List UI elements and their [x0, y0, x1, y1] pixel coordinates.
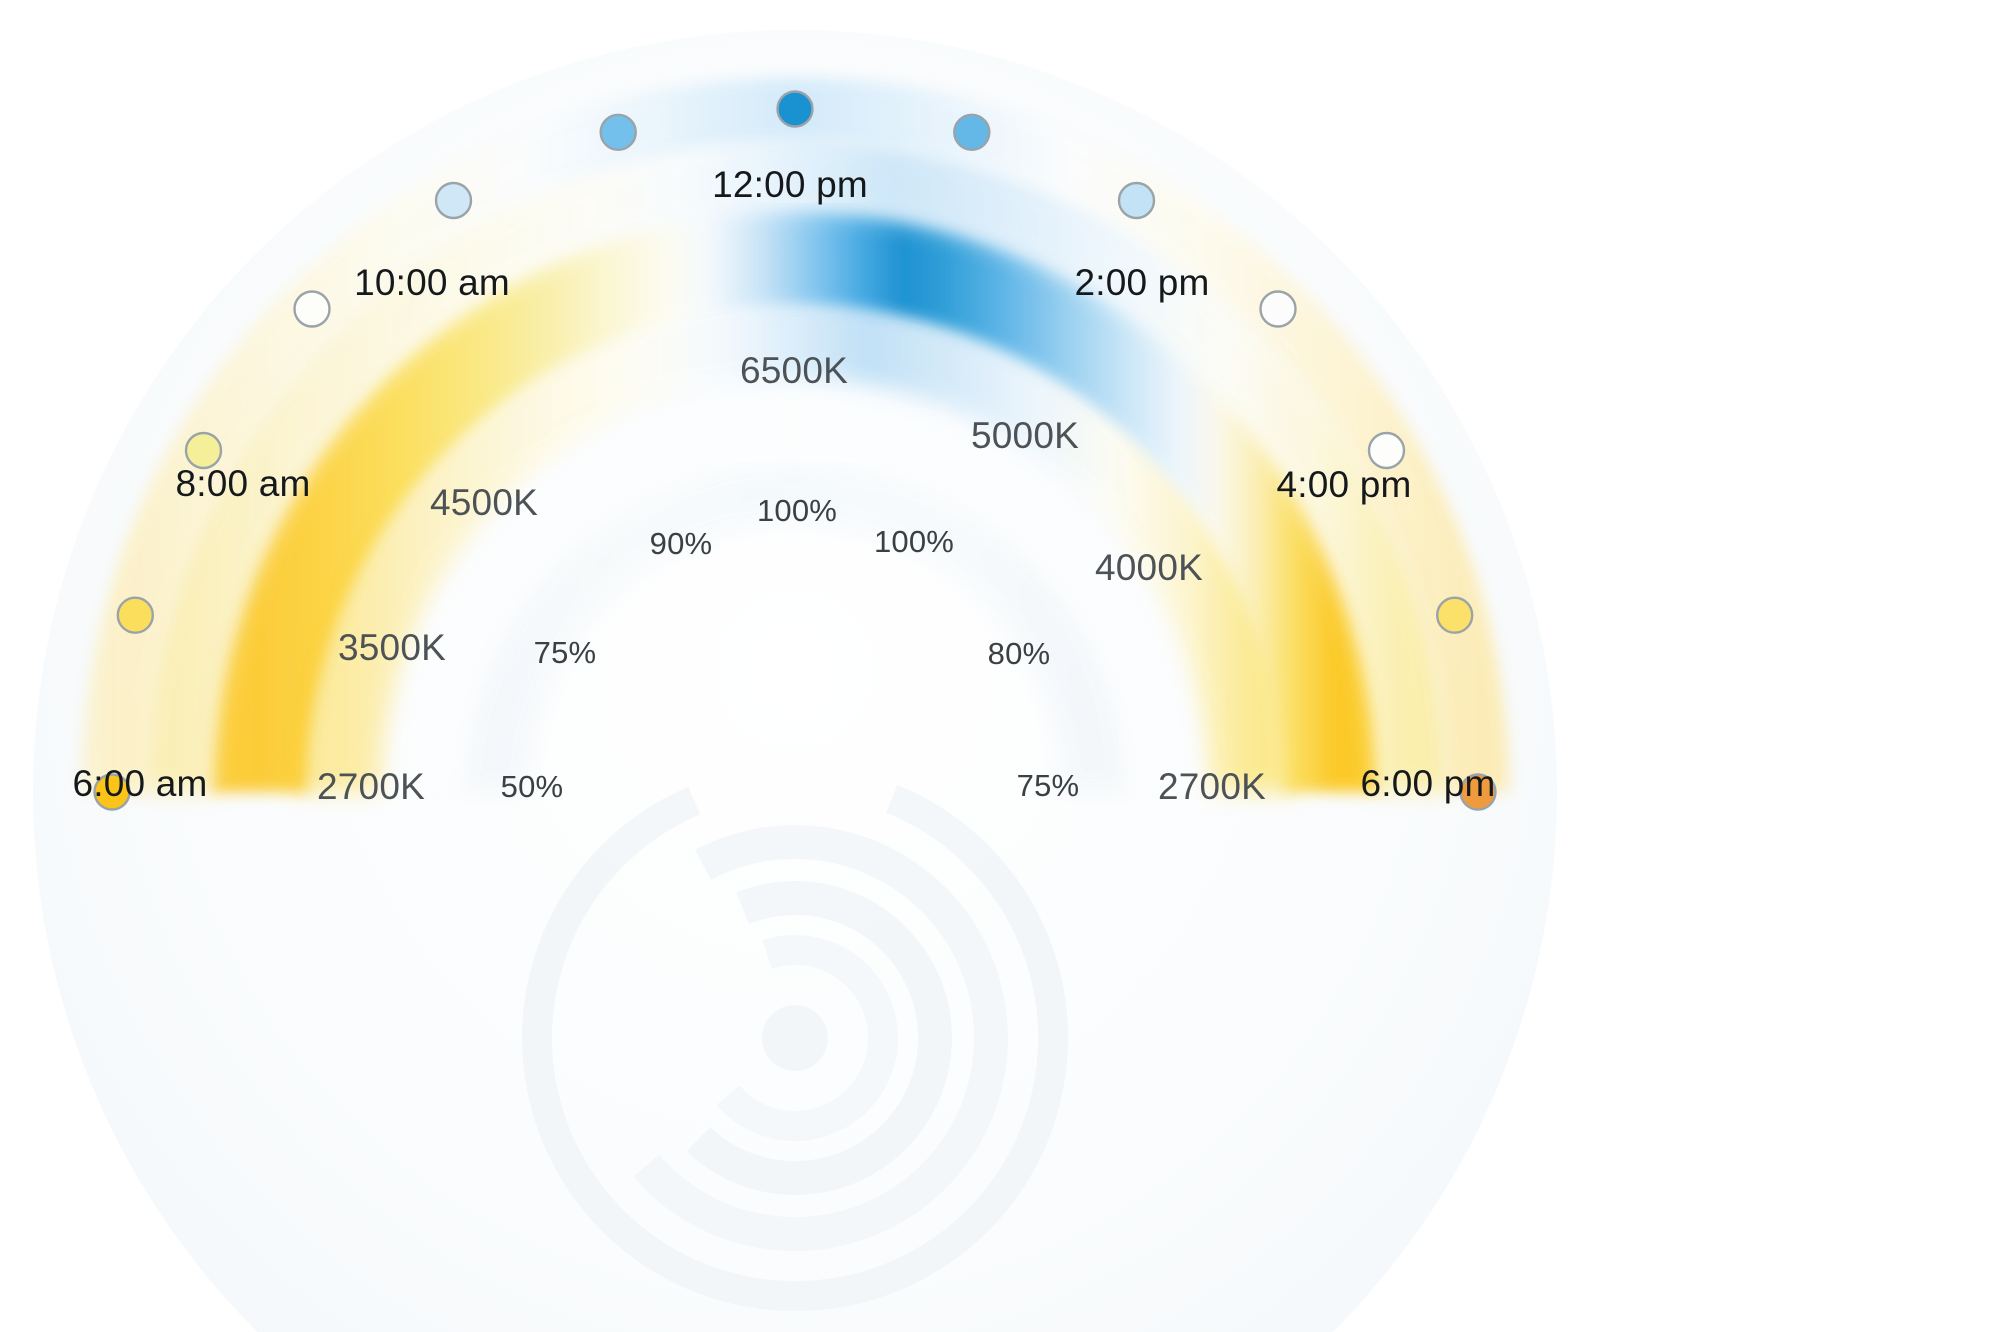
circadian-dial-graphic: [0, 0, 2000, 1332]
hour-marker-m-0800am[interactable]: [186, 433, 221, 468]
hour-marker-m-0500pm[interactable]: [1437, 598, 1472, 633]
hour-marker-m-0100pm[interactable]: [954, 115, 989, 150]
hour-marker-m-1200pm[interactable]: [778, 92, 813, 127]
hour-marker-m-0300pm[interactable]: [1261, 292, 1296, 327]
hour-marker-m-1000am[interactable]: [436, 183, 471, 218]
hour-marker-m-0900am[interactable]: [295, 292, 330, 327]
hour-marker-m-0200pm[interactable]: [1119, 183, 1154, 218]
hour-marker-m-0400pm[interactable]: [1369, 433, 1404, 468]
circadian-dial-screen: 6:00 am8:00 am10:00 am12:00 pm2:00 pm4:0…: [0, 0, 2000, 1332]
hour-marker-m-0700am[interactable]: [118, 598, 153, 633]
hour-marker-m-1100am[interactable]: [601, 115, 636, 150]
hour-marker-m-0600am[interactable]: [95, 775, 130, 810]
hour-marker-m-0600pm[interactable]: [1461, 775, 1496, 810]
